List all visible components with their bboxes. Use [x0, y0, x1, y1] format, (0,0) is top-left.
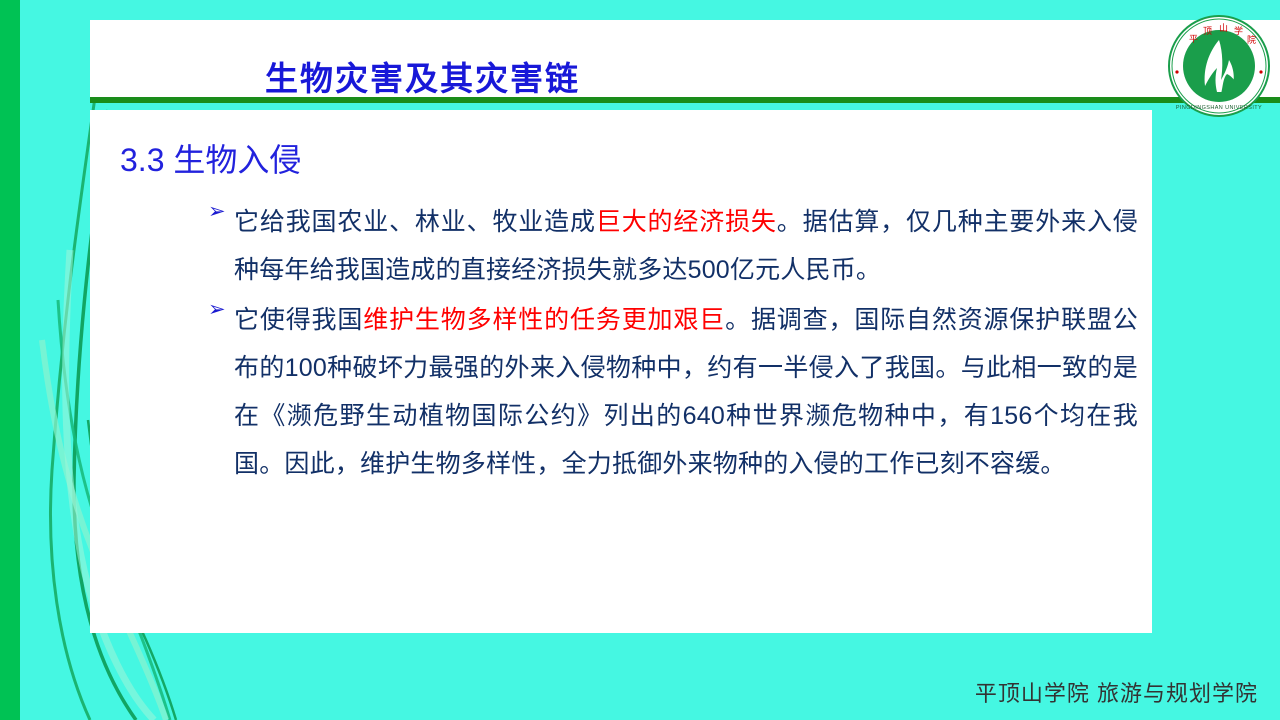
university-logo: 平 顶 山 学 院 PINGDINGSHAN UNIVERSITY [1165, 12, 1273, 120]
bullet-2-seg-1-highlight: 维护生物多样性的任务更加艰巨 [363, 306, 725, 334]
page-title: 生物灾害及其灾害链 [265, 52, 580, 100]
arrow-bullet-icon: ➢ [208, 201, 226, 222]
svg-text:顶: 顶 [1203, 26, 1212, 36]
content-panel: 3.3 生物入侵 ➢ 它给我国农业、林业、牧业造成巨大的经济损失。据估算，仅几种… [90, 110, 1152, 633]
bullet-2-seg-0: 它使得我国 [234, 306, 363, 334]
slide-canvas: 生物灾害及其灾害链 平 顶 山 学 院 PINGDINGSHAN UNIVERS… [0, 0, 1280, 720]
left-green-bar [0, 0, 20, 720]
svg-text:平: 平 [1189, 34, 1198, 44]
title-underline [90, 97, 1280, 103]
bullet-2-text: 它使得我国维护生物多样性的任务更加艰巨。据调查，国际自然资源保护联盟公布的100… [208, 296, 1138, 488]
svg-text:院: 院 [1247, 34, 1256, 45]
section-heading: 3.3 生物入侵 [120, 135, 301, 181]
bullet-1-text: 它给我国农业、林业、牧业造成巨大的经济损失。据估算，仅几种主要外来入侵种每年给我… [208, 198, 1138, 294]
title-bar: 生物灾害及其灾害链 [90, 20, 1280, 98]
bullet-list: ➢ 它给我国农业、林业、牧业造成巨大的经济损失。据估算，仅几种主要外来入侵种每年… [208, 198, 1138, 490]
list-item: ➢ 它使得我国维护生物多样性的任务更加艰巨。据调查，国际自然资源保护联盟公布的1… [208, 296, 1138, 488]
svg-text:学: 学 [1234, 25, 1243, 36]
svg-text:山: 山 [1219, 23, 1228, 33]
bullet-1-seg-1-highlight: 巨大的经济损失 [596, 208, 777, 236]
arrow-bullet-icon: ➢ [208, 299, 226, 320]
svg-text:PINGDINGSHAN UNIVERSITY: PINGDINGSHAN UNIVERSITY [1176, 105, 1262, 111]
bullet-1-seg-0: 它给我国农业、林业、牧业造成 [234, 208, 596, 236]
slide-footer: 平顶山学院 旅游与规划学院 [975, 676, 1258, 708]
list-item: ➢ 它给我国农业、林业、牧业造成巨大的经济损失。据估算，仅几种主要外来入侵种每年… [208, 198, 1138, 294]
